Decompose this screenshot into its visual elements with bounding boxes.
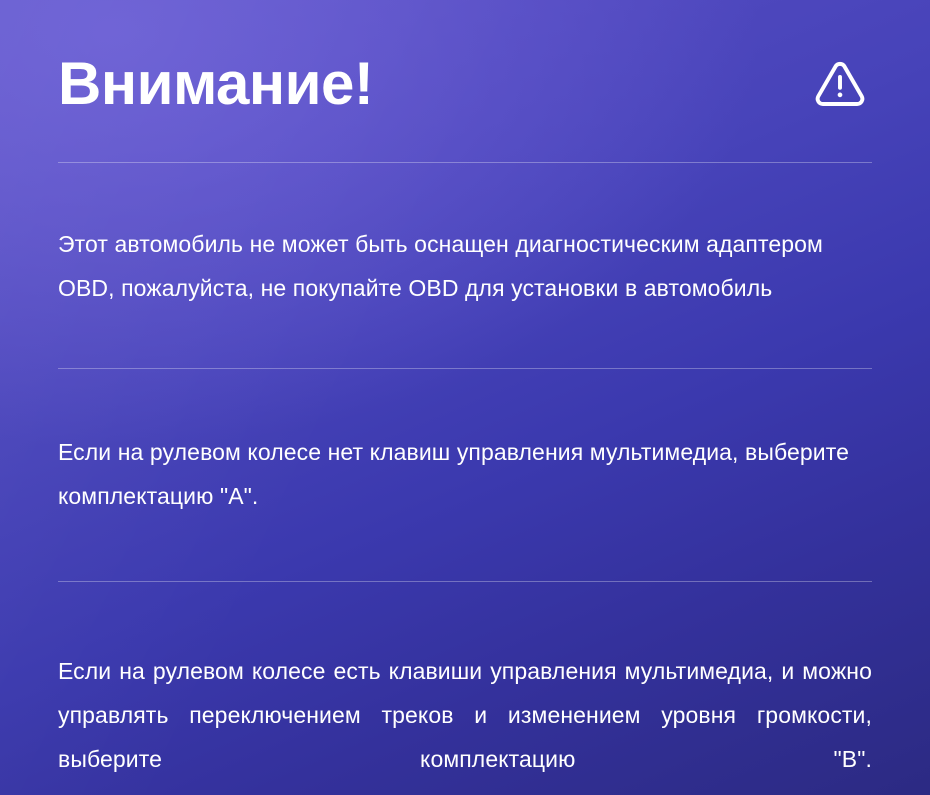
warning-triangle-icon [810,54,872,114]
content-container: Внимание! Этот автомобиль не может быть … [0,0,930,795]
notice-obd-not-supported: Этот автомобиль не может быть оснащен ди… [58,186,872,345]
notice-variant-a: Если на рулевом колесе нет клавиш управл… [58,392,872,558]
page-title: Внимание! [58,54,373,114]
page-header: Внимание! [58,0,872,162]
divider-3 [58,581,872,582]
divider-1 [58,162,872,163]
warning-page: Внимание! Этот автомобиль не может быть … [0,0,930,795]
divider-2 [58,368,872,369]
notice-variant-b: Если на рулевом колесе есть клавиши упра… [58,605,872,795]
